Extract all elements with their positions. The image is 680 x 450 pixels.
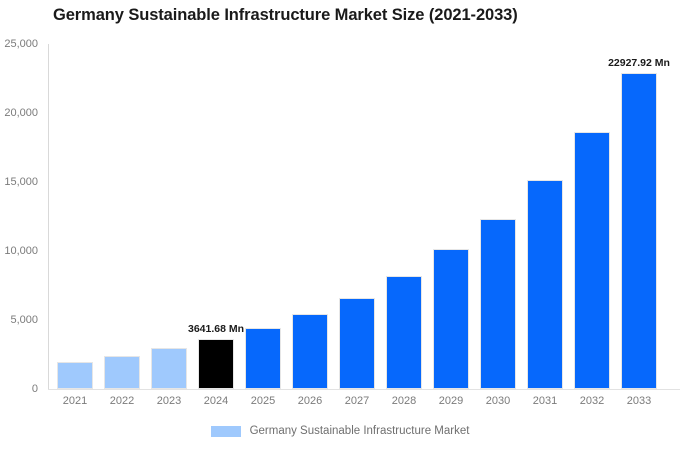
- y-axis-tick-label: 25,000: [0, 38, 38, 50]
- y-axis-tick-label: 15,000: [0, 176, 38, 188]
- bar-group: [57, 44, 93, 389]
- bar-2033[interactable]: 22927.92 Mn: [621, 73, 657, 389]
- x-axis-line: [48, 389, 680, 390]
- x-axis-tick-label: 2032: [574, 395, 610, 407]
- y-axis-tick-label: 5,000: [0, 314, 38, 326]
- bar-group: [574, 44, 610, 389]
- plot-area: 3641.68 Mn22927.92 Mn: [48, 44, 680, 389]
- bar-group: [527, 44, 563, 389]
- bar-group: 22927.92 Mn: [621, 44, 657, 389]
- x-axis-tick-label: 2028: [386, 395, 422, 407]
- bar-group: [292, 44, 328, 389]
- y-axis-tick-label: 10,000: [0, 245, 38, 257]
- bar-2022[interactable]: [104, 356, 140, 389]
- bar-group: [104, 44, 140, 389]
- bar-group: [433, 44, 469, 389]
- bar-2030[interactable]: [480, 219, 516, 389]
- x-axis-tick-label: 2026: [292, 395, 328, 407]
- bar-group: [386, 44, 422, 389]
- bar-2021[interactable]: [57, 362, 93, 389]
- x-axis-tick-label: 2024: [198, 395, 234, 407]
- bar-2031[interactable]: [527, 180, 563, 389]
- x-axis-tick-label: 2023: [151, 395, 187, 407]
- bar-2023[interactable]: [151, 348, 187, 389]
- bar-chart: Germany Sustainable Infrastructure Marke…: [0, 0, 680, 450]
- bar-2026[interactable]: [292, 314, 328, 389]
- x-axis-tick-label: 2031: [527, 395, 563, 407]
- legend-color-swatch: [211, 426, 241, 437]
- chart-legend: Germany Sustainable Infrastructure Marke…: [0, 425, 680, 437]
- x-axis-tick-label: 2021: [57, 395, 93, 407]
- y-axis-tick-label: 20,000: [0, 107, 38, 119]
- x-axis-tick-label: 2033: [621, 395, 657, 407]
- y-axis-tick-label: 0: [0, 383, 38, 395]
- bar-value-label-2033: 22927.92 Mn: [608, 57, 670, 69]
- x-axis-tick-label: 2030: [480, 395, 516, 407]
- bar-2032[interactable]: [574, 132, 610, 389]
- legend-item[interactable]: Germany Sustainable Infrastructure Marke…: [211, 425, 470, 437]
- chart-title: Germany Sustainable Infrastructure Marke…: [53, 6, 518, 25]
- bar-2028[interactable]: [386, 276, 422, 389]
- bar-group: [245, 44, 281, 389]
- bar-2027[interactable]: [339, 298, 375, 389]
- bar-2029[interactable]: [433, 249, 469, 389]
- bar-group: [339, 44, 375, 389]
- bar-2024[interactable]: 3641.68 Mn: [198, 339, 234, 389]
- x-axis-tick-label: 2029: [433, 395, 469, 407]
- x-axis-tick-label: 2025: [245, 395, 281, 407]
- bar-group: 3641.68 Mn: [198, 44, 234, 389]
- x-axis-tick-label: 2022: [104, 395, 140, 407]
- bar-group: [480, 44, 516, 389]
- legend-label: Germany Sustainable Infrastructure Marke…: [250, 425, 470, 437]
- bar-2025[interactable]: [245, 328, 281, 389]
- bar-value-label-2024: 3641.68 Mn: [188, 323, 244, 335]
- bar-group: [151, 44, 187, 389]
- x-axis-tick-label: 2027: [339, 395, 375, 407]
